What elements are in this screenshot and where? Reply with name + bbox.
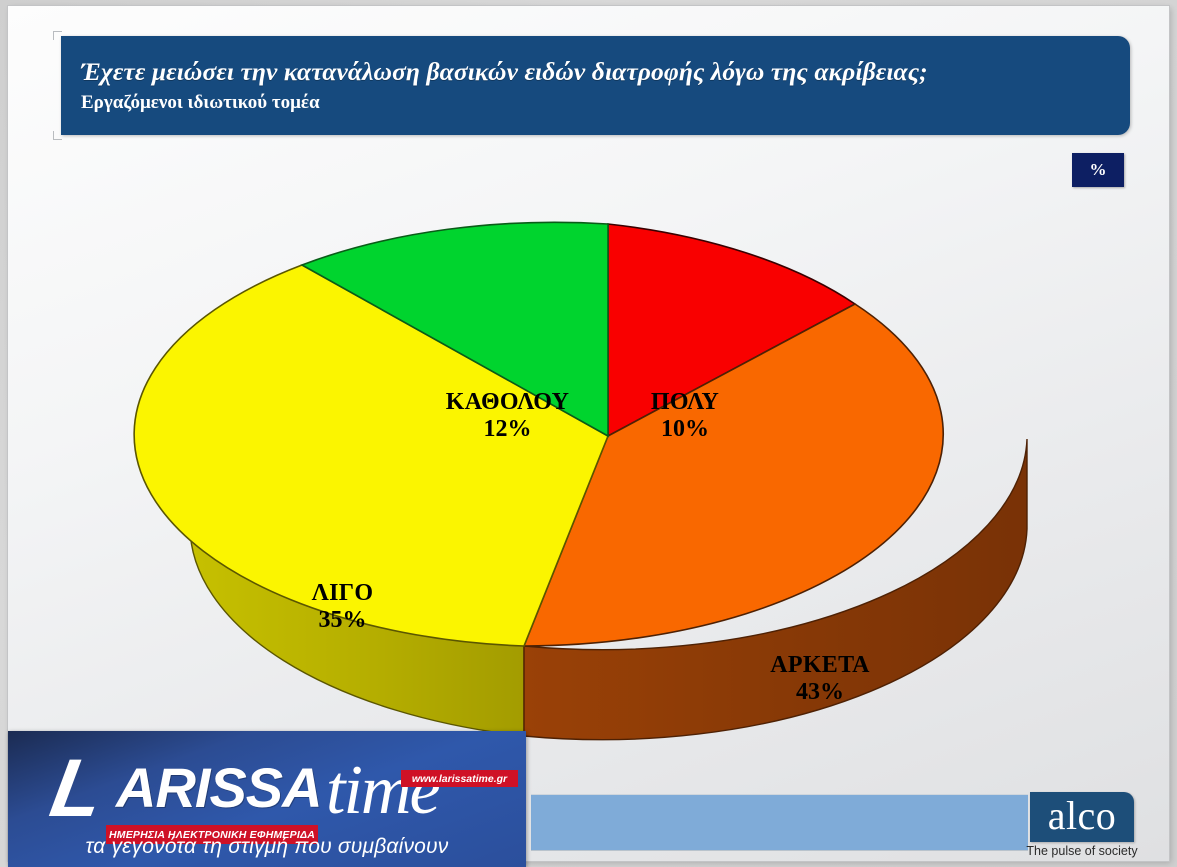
slide-header: Έχετε μειώσει την κατανάλωση βασικών ειδ… xyxy=(61,36,1130,135)
larissatime-logo: L ARISSA time ΗΜΕΡΗΣΙΑ ΗΛΕΚΤΡΟΝΙΚΗ ΕΦΗΜΕ… xyxy=(8,731,526,867)
header-corner-marker-bottom xyxy=(53,131,62,140)
alco-logo-word: alco xyxy=(1030,791,1134,841)
larissatime-logo-time: time xyxy=(326,755,439,827)
page-title: Έχετε μειώσει την κατανάλωση βασικών ειδ… xyxy=(81,58,1116,86)
larissatime-tagline: τα γεγονότα τη στιγμή που συμβαίνουν xyxy=(8,835,526,859)
screenshot-root: Έχετε μειώσει την κατανάλωση βασικών ειδ… xyxy=(0,0,1177,867)
larissatime-url: www.larissatime.gr xyxy=(401,770,518,787)
footer-bar xyxy=(531,794,1028,850)
header-corner-marker-top xyxy=(53,31,62,40)
page-subtitle: Εργαζόμενοι ιδιωτικού τομέα xyxy=(81,92,1116,114)
larissatime-logo-word: ARISSA xyxy=(116,759,322,817)
alco-logo-tagline: The pulse of society xyxy=(1020,844,1144,858)
pie-chart: ΚΑΘΟΛΟΥ 12% ΠΟΛΥ 10% ΛΙΓΟ 35% ΑΡΚΕΤΑ 43% xyxy=(20,146,1156,746)
alco-logo: alco xyxy=(1030,792,1134,842)
pie-chart-svg xyxy=(20,146,1156,746)
